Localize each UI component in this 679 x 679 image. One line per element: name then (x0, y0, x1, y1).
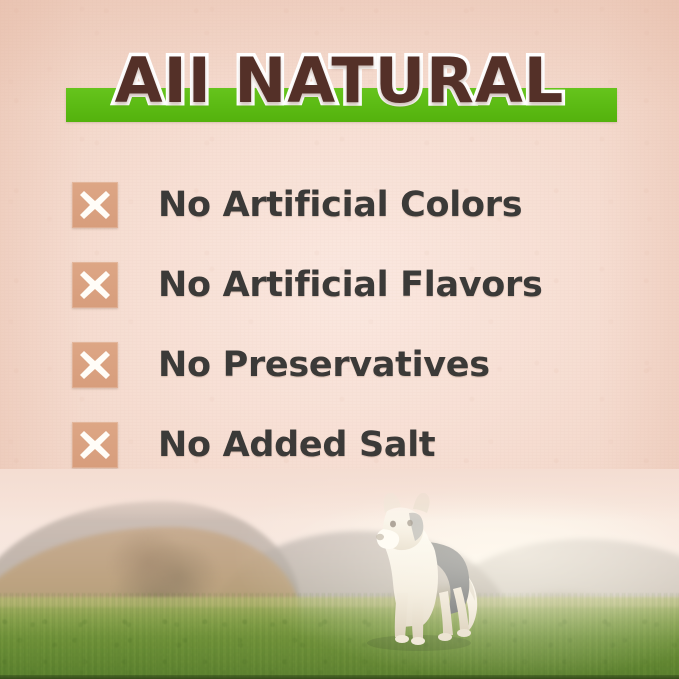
list-item: No Preservatives (72, 342, 632, 388)
x-mark-icon (72, 182, 118, 228)
benefits-list: No Artificial Colors No Artificial Flavo… (72, 182, 632, 502)
list-item-label: No Preservatives (158, 345, 490, 385)
dog-illustration (347, 493, 487, 651)
all-natural-product-poster: AII NATURAL No Artificial Colors No Arti… (0, 0, 679, 679)
x-mark-icon (72, 262, 118, 308)
x-mark-icon (72, 422, 118, 468)
list-item-label: No Artificial Flavors (158, 265, 543, 305)
list-item: No Artificial Colors (72, 182, 632, 228)
list-item: No Added Salt (72, 422, 632, 468)
list-item: No Artificial Flavors (72, 262, 632, 308)
headline-block: AII NATURAL (0, 44, 679, 136)
grass-texture (0, 593, 679, 679)
list-item-label: No Artificial Colors (158, 185, 522, 225)
x-mark-icon (72, 342, 118, 388)
landscape-photo (0, 469, 679, 679)
photo-bottom-edge (0, 675, 679, 679)
headline-title: AII NATURAL (0, 44, 679, 118)
list-item-label: No Added Salt (158, 425, 435, 465)
